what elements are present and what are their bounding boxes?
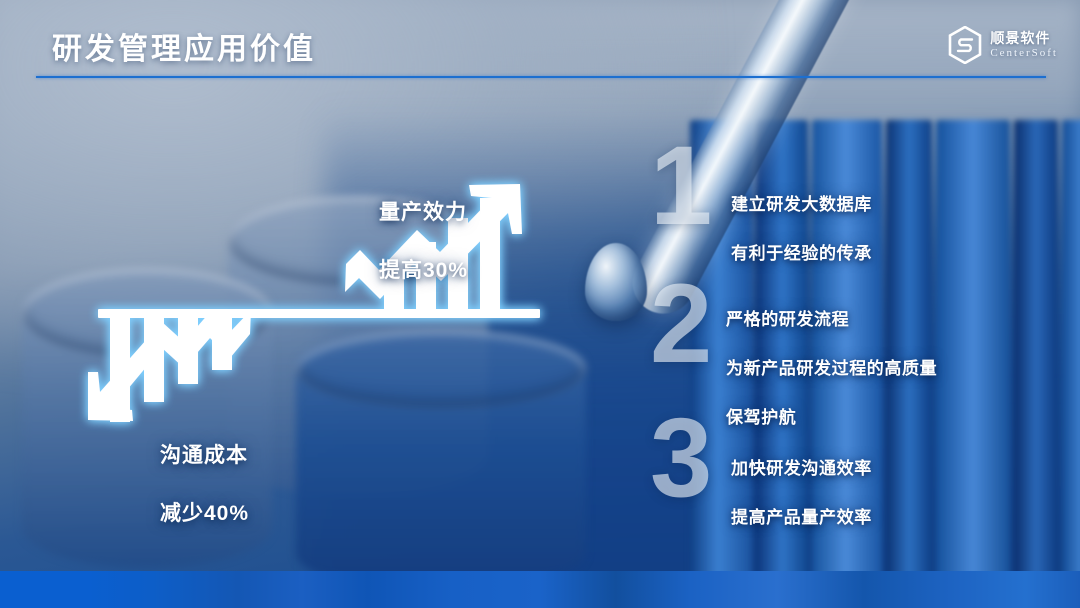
slide-bottom-accent-bar xyxy=(0,571,1080,608)
brand-name-en: CenterSoft xyxy=(990,48,1058,59)
value-point-text-1: 建立研发大数据库 有利于经验的传承 xyxy=(731,168,872,291)
value-point-line: 建立研发大数据库 xyxy=(731,193,872,218)
chart-baseline xyxy=(98,309,540,318)
presentation-slide: 研发管理应用价值 顺景软件 CenterSoft xyxy=(0,0,1080,608)
value-point-line: 有利于经验的传承 xyxy=(731,242,872,267)
value-point-line: 严格的研发流程 xyxy=(726,308,937,333)
metric-line-1: 沟通成本 xyxy=(160,442,249,471)
test-tube xyxy=(1014,120,1058,580)
test-tube xyxy=(936,120,1010,580)
value-point-line: 为新产品研发过程的高质量 xyxy=(726,357,937,382)
brand-logo: 顺景软件 CenterSoft xyxy=(948,26,1058,64)
page-title: 研发管理应用价值 xyxy=(52,24,316,68)
test-tube xyxy=(1062,120,1080,580)
dual-trend-chart-graphic xyxy=(88,182,558,482)
hexagon-s-logo-icon xyxy=(948,26,982,64)
metric-label-communication-cost: 沟通成本 减少40% xyxy=(160,413,249,558)
metric-line-2: 提高30% xyxy=(379,257,468,286)
brand-logo-text: 顺景软件 CenterSoft xyxy=(990,31,1058,59)
value-point-number-2: 2 xyxy=(650,278,710,370)
value-point-line: 保驾护航 xyxy=(726,406,937,431)
value-point-text-3: 加快研发沟通效率 提高产品量产效率 xyxy=(731,432,872,555)
value-point-text-2: 严格的研发流程 为新产品研发过程的高质量 保驾护航 xyxy=(726,283,937,455)
metric-line-2: 减少40% xyxy=(160,500,249,529)
metric-label-capacity-efficiency: 量产效力 提高30% xyxy=(379,170,468,315)
value-point-number-1: 1 xyxy=(650,140,710,232)
value-point-line: 加快研发沟通效率 xyxy=(731,457,872,482)
metric-line-1: 量产效力 xyxy=(379,199,468,228)
title-underline-divider xyxy=(36,76,1046,78)
value-point-number-3: 3 xyxy=(650,412,710,504)
value-point-line: 提高产品量产效率 xyxy=(731,506,872,531)
brand-name-cn: 顺景软件 xyxy=(990,31,1058,45)
